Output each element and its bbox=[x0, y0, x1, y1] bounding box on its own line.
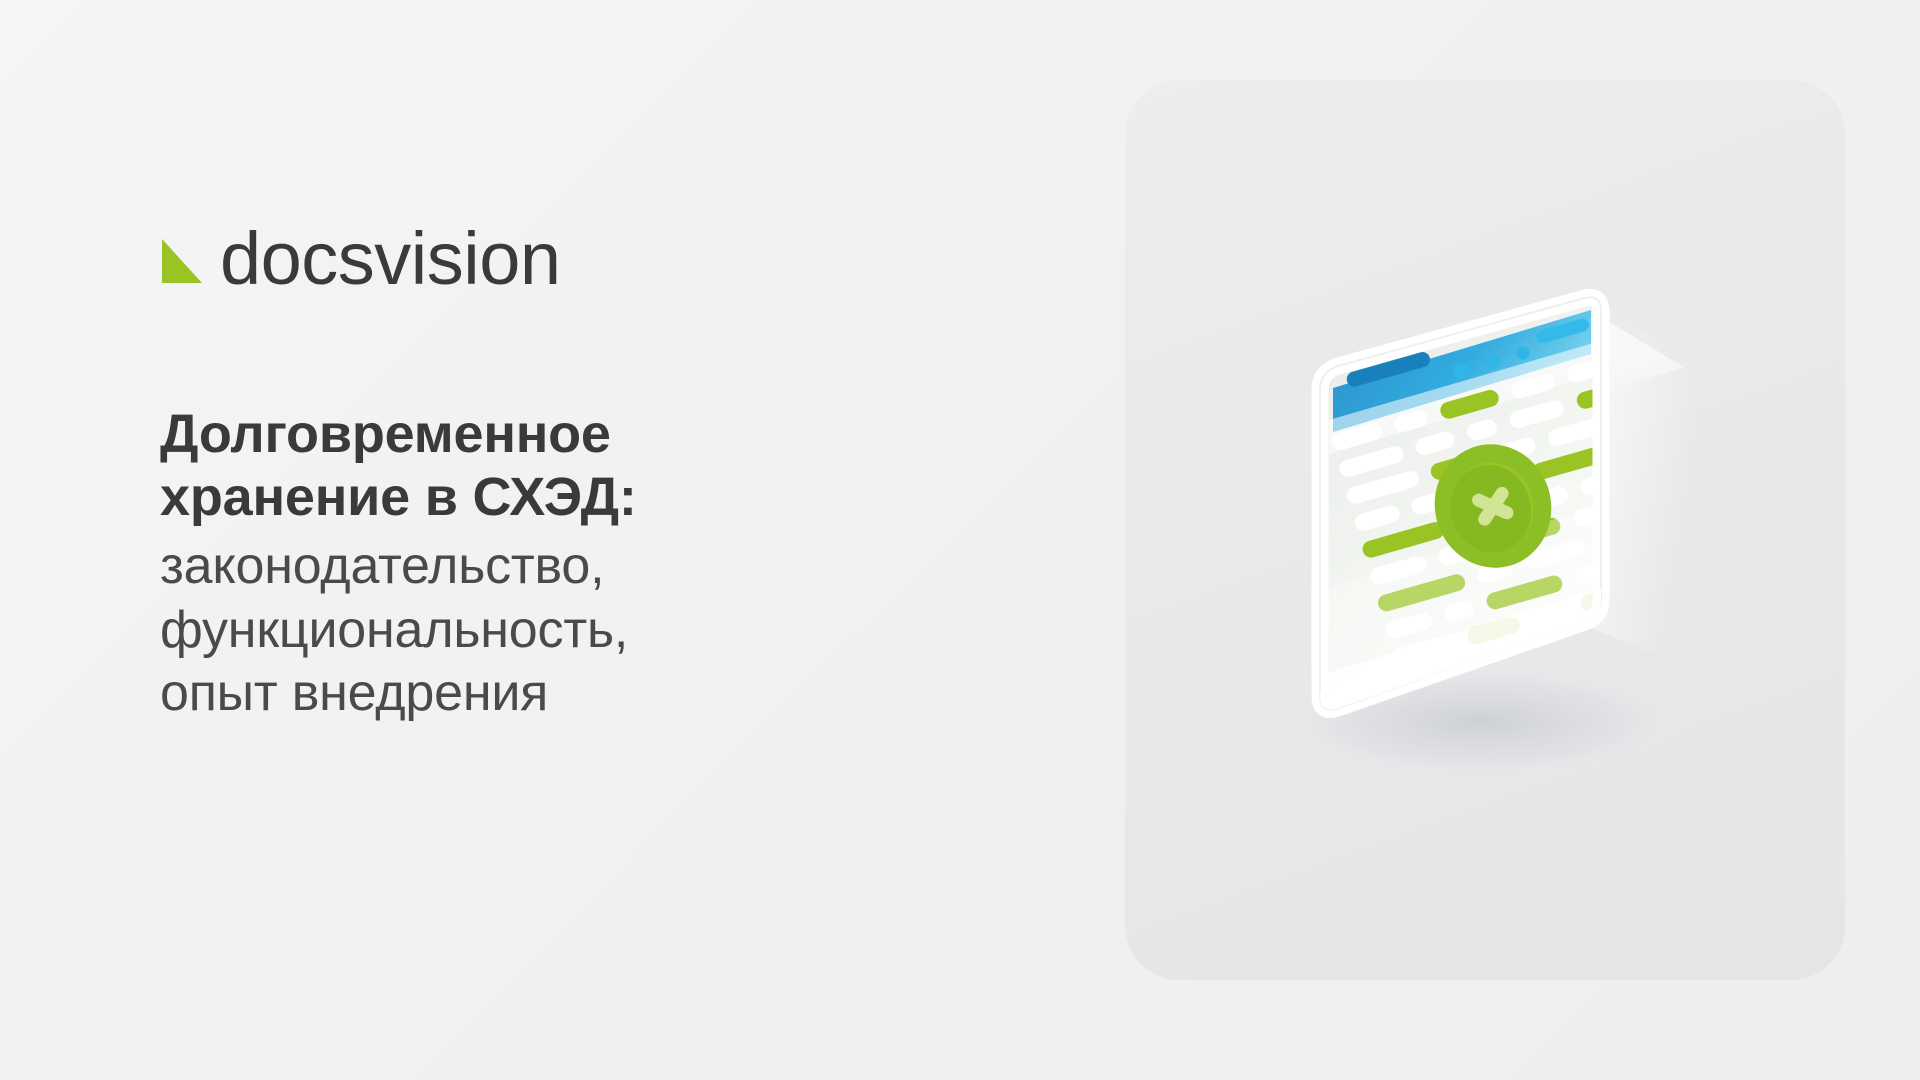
triangle-mark-icon bbox=[160, 233, 202, 285]
subheadline-line-1: законодательство, bbox=[160, 535, 920, 598]
page-subtitle: законодательство, функциональность, опыт… bbox=[160, 535, 920, 725]
subheadline-line-2: функциональность, bbox=[160, 599, 920, 662]
headline-line-2: хранение в СХЭД: bbox=[160, 466, 920, 529]
brand-wordmark: docsvision bbox=[220, 226, 561, 291]
archive-storage-box-illustration bbox=[1225, 270, 1745, 790]
page-title: Долговременное хранение в СХЭД: bbox=[160, 403, 920, 529]
subheadline-line-3: опыт внедрения bbox=[160, 662, 920, 725]
title-block: Долговременное хранение в СХЭД: законода… bbox=[160, 403, 920, 726]
headline-line-1: Долговременное bbox=[160, 403, 920, 466]
slide-canvas: docsvision Долговременное хранение в СХЭ… bbox=[0, 0, 1920, 1080]
brand-logo[interactable]: docsvision bbox=[160, 195, 920, 291]
content-column: docsvision Долговременное хранение в СХЭ… bbox=[160, 195, 920, 726]
